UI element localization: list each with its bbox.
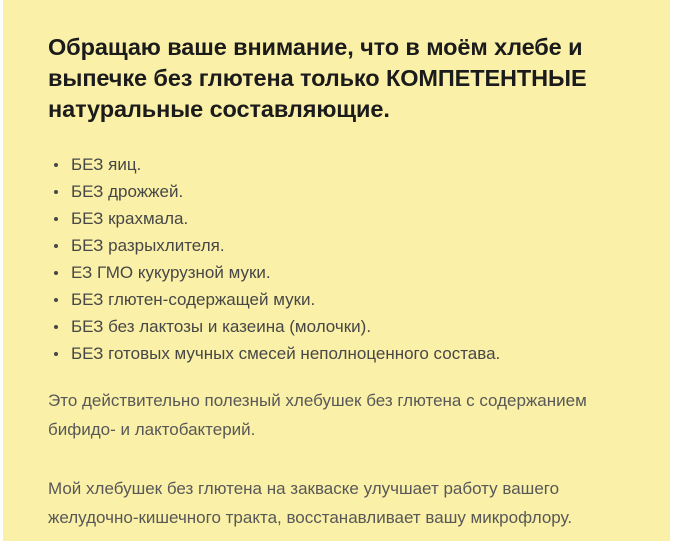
list-item-label: БЕЗ без лактозы и казеина (молочки). [71, 317, 371, 336]
list-item: БЕЗ дрожжей. [48, 178, 638, 205]
bullet-dot-icon [54, 244, 58, 248]
info-card: Обращаю ваше внимание, что в моём хлебе … [3, 0, 670, 541]
bullet-dot-icon [54, 298, 58, 302]
list-item-label: БЕЗ разрыхлителя. [71, 236, 225, 255]
page-title: Обращаю ваше внимание, что в моём хлебе … [48, 0, 638, 125]
body-paragraph-digestion: Мой хлебушек без глютена на закваске улу… [48, 444, 628, 532]
ingredient-exclusion-list: БЕЗ яиц. БЕЗ дрожжей. БЕЗ крахмала. БЕЗ … [48, 125, 638, 367]
list-item: БЕЗ глютен-содержащей муки. [48, 286, 638, 313]
list-item: ЕЗ ГМО кукурузной муки. [48, 259, 638, 286]
card-content: Обращаю ваше внимание, что в моём хлебе … [48, 0, 638, 532]
list-item-label: БЕЗ яиц. [71, 155, 141, 174]
body-paragraph-benefits: Это действительно полезный хлебушек без … [48, 367, 628, 444]
list-item: БЕЗ готовых мучных смесей неполноценного… [48, 340, 638, 367]
bullet-dot-icon [54, 325, 58, 329]
list-item: БЕЗ крахмала. [48, 205, 638, 232]
list-item-label: БЕЗ глютен-содержащей муки. [71, 290, 315, 309]
bullet-dot-icon [54, 190, 58, 194]
list-item-label: БЕЗ крахмала. [71, 209, 188, 228]
list-item-label: ЕЗ ГМО кукурузной муки. [71, 263, 271, 282]
bullet-dot-icon [54, 271, 58, 275]
list-item-label: БЕЗ дрожжей. [71, 182, 183, 201]
bullet-dot-icon [54, 163, 58, 167]
bullet-dot-icon [54, 217, 58, 221]
list-item: БЕЗ яиц. [48, 151, 638, 178]
list-item: БЕЗ разрыхлителя. [48, 232, 638, 259]
list-item: БЕЗ без лактозы и казеина (молочки). [48, 313, 638, 340]
bullet-dot-icon [54, 352, 58, 356]
list-item-label: БЕЗ готовых мучных смесей неполноценного… [71, 344, 500, 363]
